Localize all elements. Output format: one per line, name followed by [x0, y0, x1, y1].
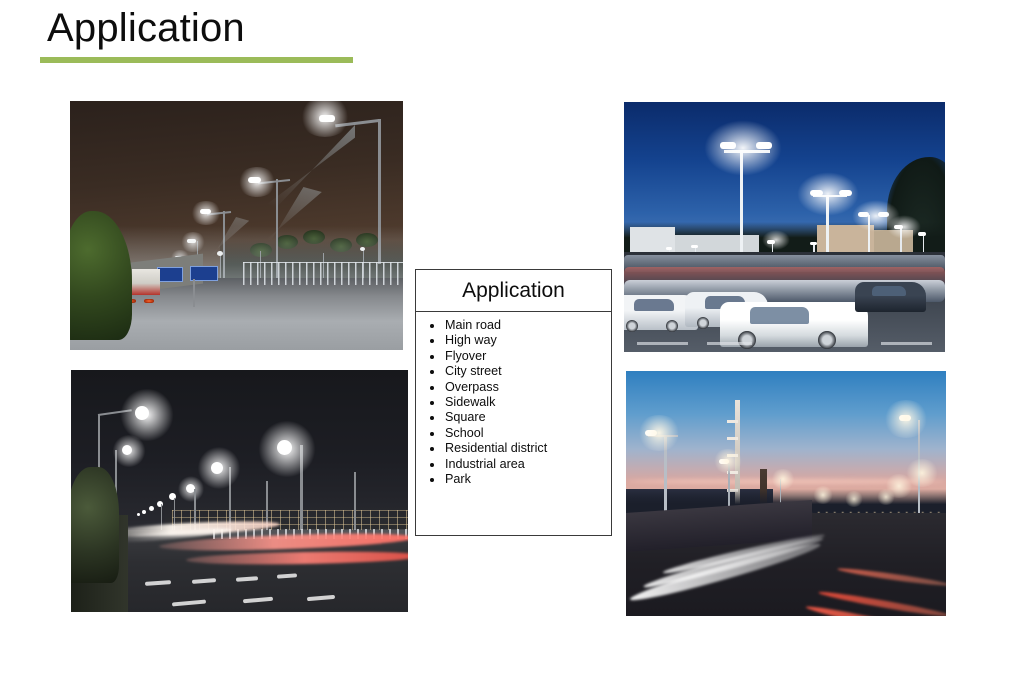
slide-canvas: Application — [0, 0, 1014, 674]
photo-dusk-highway — [626, 371, 946, 616]
page-title: Application — [47, 4, 245, 52]
list-item: Sidewalk — [426, 395, 611, 410]
list-item: Main road — [426, 318, 611, 333]
application-box-header: Application — [416, 270, 611, 312]
list-item: Park — [426, 472, 611, 487]
list-item: High way — [426, 333, 611, 348]
photo-road-night — [70, 101, 403, 350]
photo-highway-trails — [71, 370, 408, 612]
photo-parking-lot — [624, 102, 945, 352]
list-item: Flyover — [426, 349, 611, 364]
list-item: Overpass — [426, 380, 611, 395]
title-underline-rule — [40, 57, 353, 63]
application-box-title: Application — [462, 279, 565, 303]
list-item: Square — [426, 410, 611, 425]
list-item: Residential district — [426, 441, 611, 456]
list-item: Industrial area — [426, 457, 611, 472]
list-item: School — [426, 426, 611, 441]
application-list: Main road High way Flyover City street O… — [416, 312, 611, 487]
application-list-box: Application Main road High way Flyover C… — [415, 269, 612, 536]
list-item: City street — [426, 364, 611, 379]
